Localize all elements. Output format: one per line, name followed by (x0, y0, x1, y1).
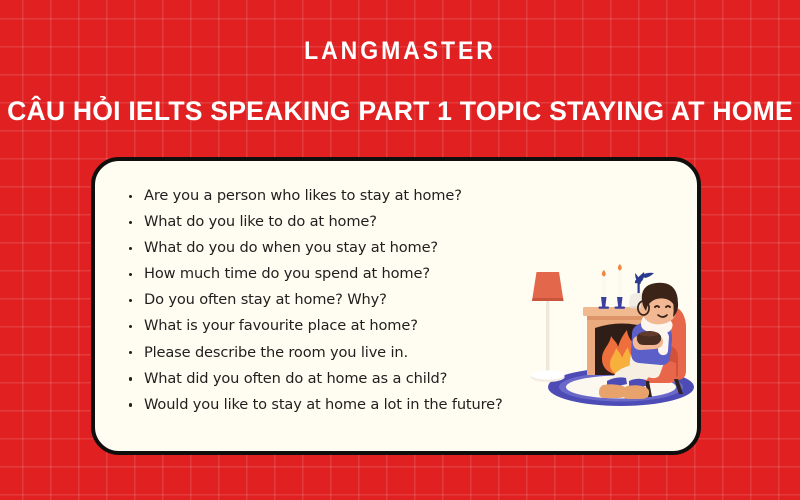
list-item: How much time do you spend at home? (128, 261, 548, 287)
questions-card: Are you a person who likes to stay at ho… (91, 157, 701, 455)
slide-canvas: LANGMASTER CÂU HỎI IELTS SPEAKING PART 1… (0, 0, 800, 500)
list-item: Would you like to stay at home a lot in … (128, 392, 548, 418)
list-item: What did you often do at home as a child… (128, 366, 548, 392)
list-item: What is your favourite place at home? (128, 313, 548, 339)
list-item: Are you a person who likes to stay at ho… (128, 183, 548, 209)
brand-logo-langmaster: LANGMASTER (32, 39, 768, 64)
list-item: Please describe the room you live in. (128, 340, 548, 366)
home-relaxing-illustration (523, 229, 701, 415)
list-item: What do you do when you stay at home? (128, 235, 548, 261)
page-title: CÂU HỎI IELTS SPEAKING PART 1 TOPIC STAY… (6, 96, 794, 127)
questions-list: Are you a person who likes to stay at ho… (128, 183, 548, 418)
list-item: Do you often stay at home? Why? (128, 287, 548, 313)
list-item: What do you like to do at home? (128, 209, 548, 235)
